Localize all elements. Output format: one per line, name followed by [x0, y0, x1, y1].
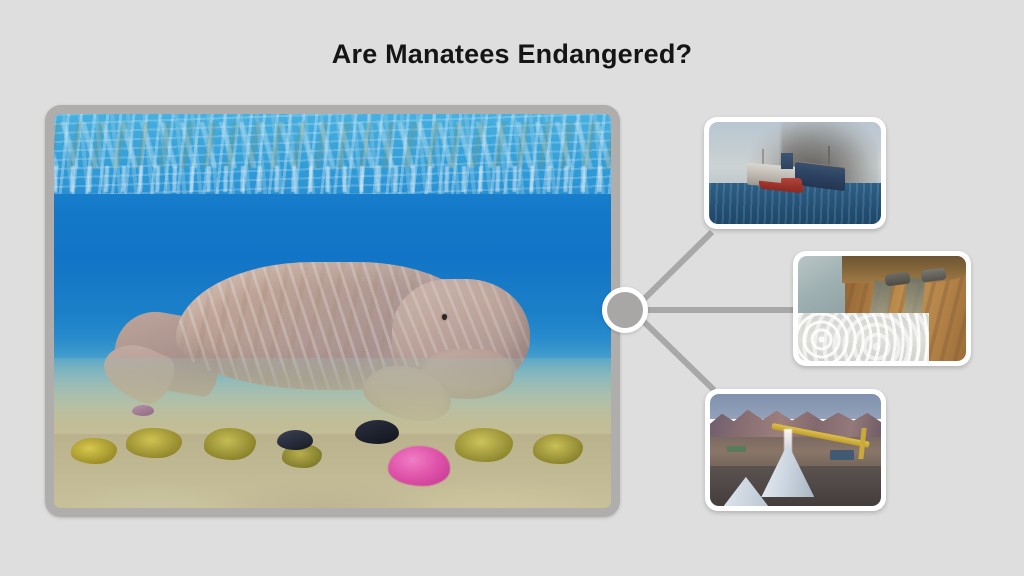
coral-cluster [455, 428, 513, 462]
polluted-foam [798, 313, 929, 361]
sewage-discharge-image [798, 256, 966, 361]
coral-cluster [126, 428, 182, 458]
connector-line-top [640, 232, 712, 303]
coral-cluster [204, 428, 256, 460]
slide-canvas: Are Manatees Endangered? [0, 0, 1024, 576]
surgeonfish [132, 405, 154, 416]
sky [710, 394, 881, 419]
water-surface-glint [54, 166, 611, 192]
manatee-eye [442, 314, 447, 320]
coral-cluster [71, 438, 117, 464]
pink-coral [388, 446, 450, 486]
main-photo [54, 114, 611, 508]
coral-cluster [533, 434, 583, 464]
surgeonfish [355, 420, 399, 444]
threat-thumbnail-coastal-mining[interactable] [705, 389, 886, 511]
central-connector-node[interactable] [602, 287, 648, 333]
surgeonfish [277, 430, 313, 450]
ship-superstructure [781, 153, 793, 169]
connector-line-bottom [640, 318, 714, 390]
outflow-pipe [920, 267, 946, 282]
tug-boat [781, 178, 802, 189]
threat-thumbnail-water-pollution[interactable] [793, 251, 971, 366]
site-building [727, 446, 746, 453]
ship-image [709, 122, 881, 224]
main-photo-frame[interactable] [45, 105, 620, 517]
site-building [830, 450, 854, 460]
coral-reef-floor [54, 358, 611, 508]
page-title: Are Manatees Endangered? [0, 39, 1024, 70]
mining-site-image [710, 394, 881, 506]
ship-mast [828, 146, 830, 166]
threat-thumbnail-ship-strike[interactable] [704, 117, 886, 229]
